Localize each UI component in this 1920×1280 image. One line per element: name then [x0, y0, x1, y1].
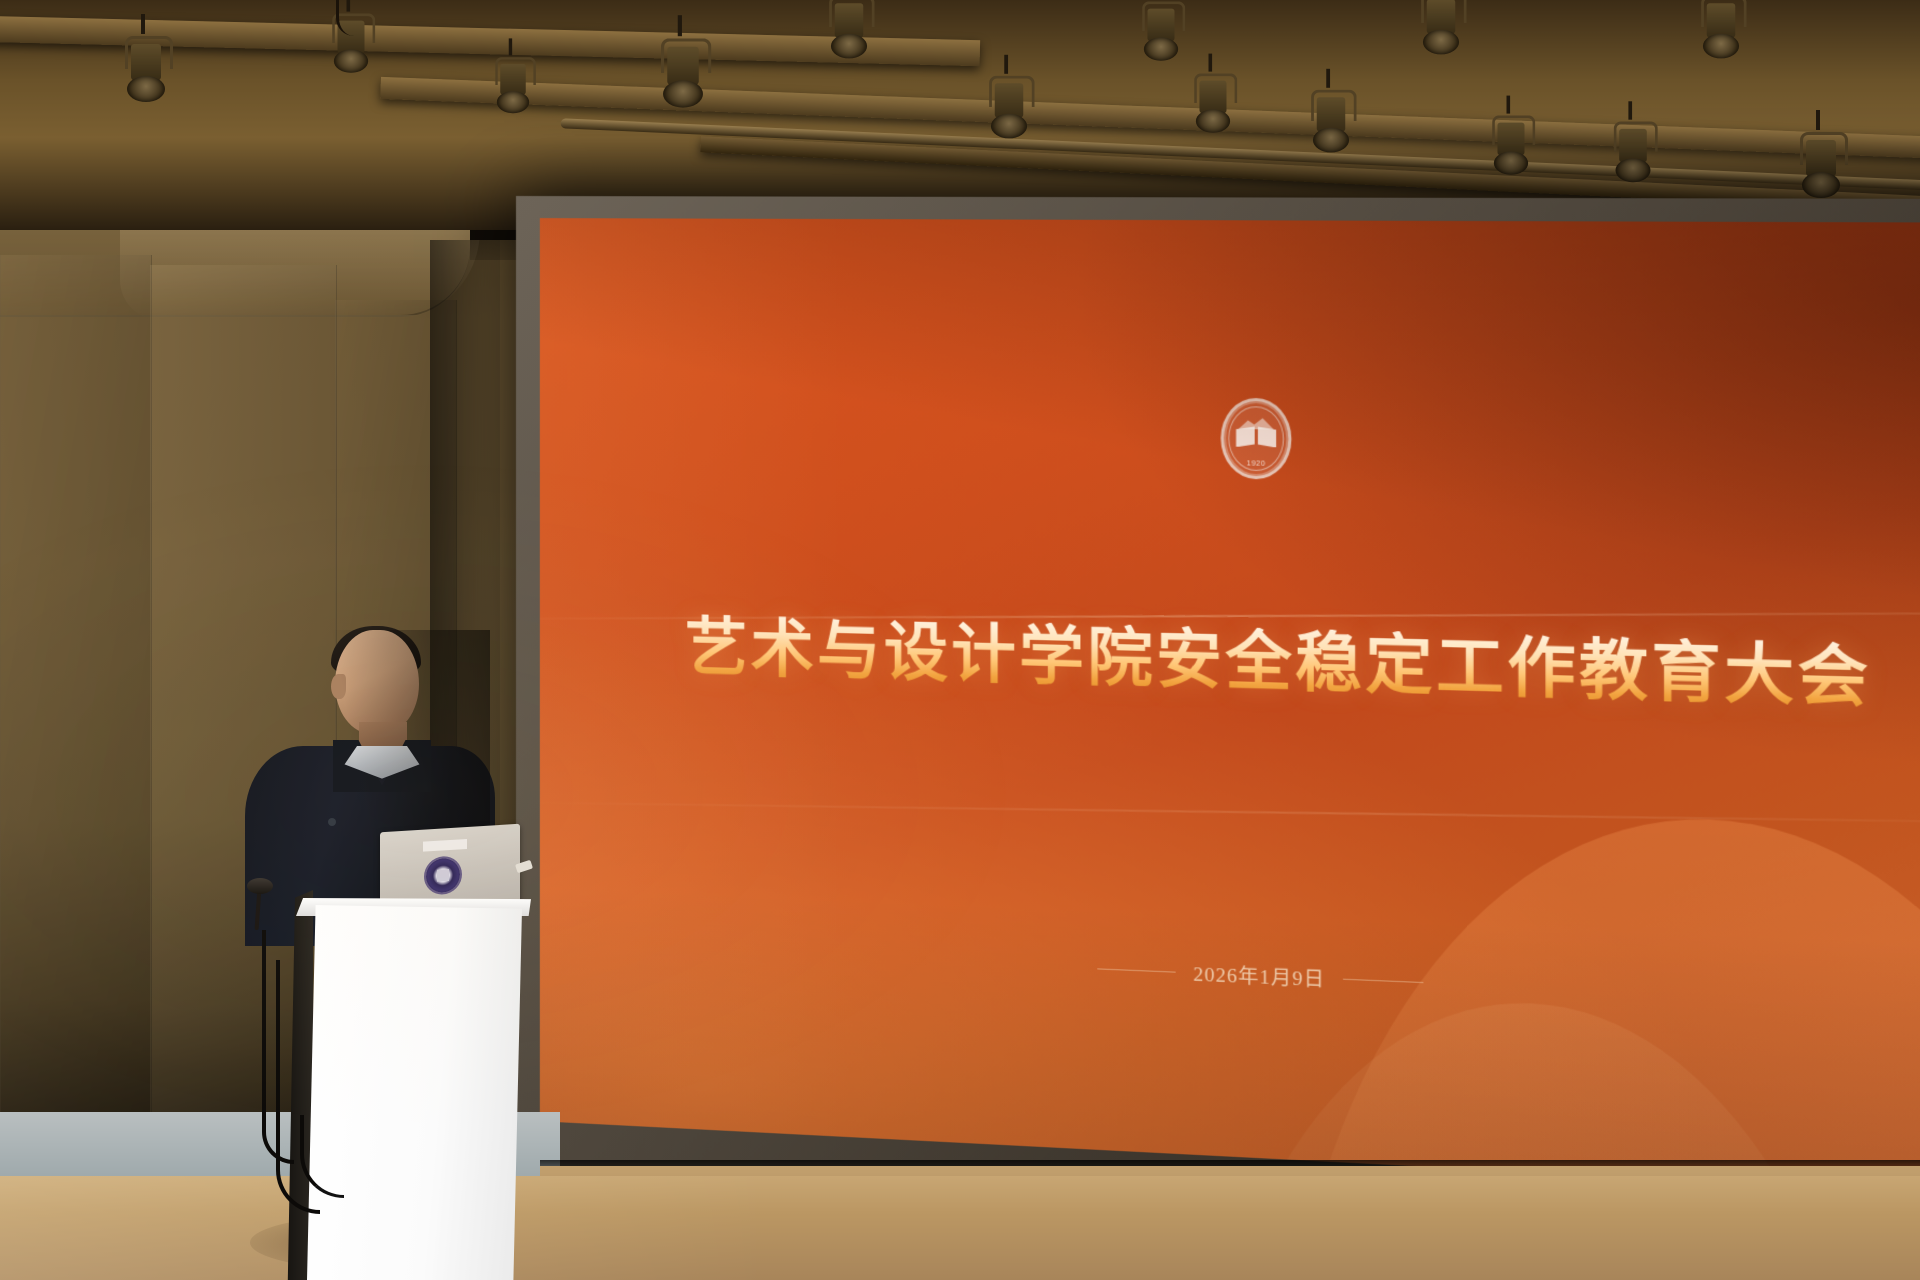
auditorium-scene: 1920 艺术与设计学院安全稳定工作教育大会 2026年1月9日: [0, 0, 1920, 1280]
laptop-label: [423, 839, 467, 852]
lectern: [307, 905, 522, 1280]
projection-screen: 1920 艺术与设计学院安全稳定工作教育大会 2026年1月9日: [516, 196, 1920, 1258]
lapel-microphone-icon: [328, 818, 336, 826]
podium-microphone-icon: [247, 878, 273, 894]
emblem-year: 1920: [1221, 460, 1292, 468]
presenter-ear: [331, 674, 346, 699]
wall-panel-left: [0, 255, 152, 1155]
slide-surface: 1920 艺术与设计学院安全稳定工作教育大会 2026年1月9日: [540, 218, 1920, 1197]
date-rule-left: [1098, 968, 1176, 972]
slide-date: 2026年1月9日: [1193, 958, 1325, 992]
laptop-emblem-sticker-icon: [426, 857, 460, 893]
presenter-head: [335, 630, 419, 734]
slide-title: 艺术与设计学院安全稳定工作教育大会: [540, 611, 1920, 720]
date-rule-right: [1342, 978, 1422, 982]
ceiling: [0, 0, 1920, 230]
university-emblem-icon: 1920: [1221, 398, 1292, 480]
